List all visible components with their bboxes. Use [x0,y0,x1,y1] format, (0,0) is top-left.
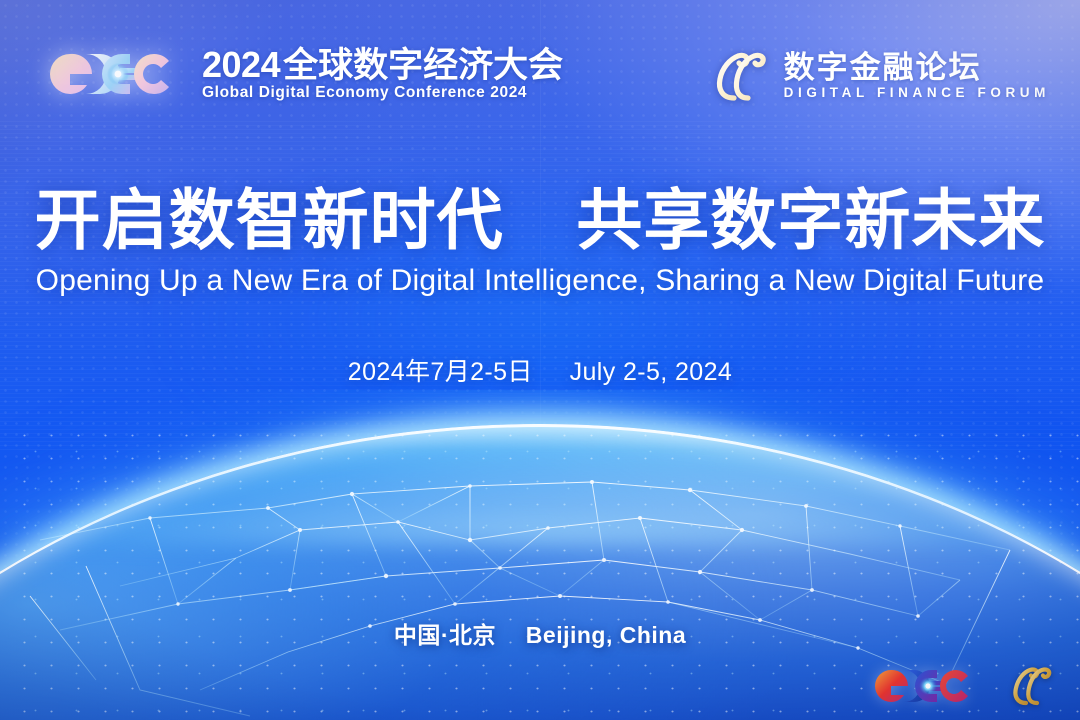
gdec-title-year: 2024 [202,47,280,83]
footer-gdec-logo-icon [870,665,974,707]
main-slogan-block: 开启数智新时代 共享数字新未来 Opening Up a New Era of … [0,186,1080,298]
headline-en: Opening Up a New Era of Digital Intellig… [0,264,1080,298]
dff-title-block: 数字金融论坛 DIGITAL FINANCE FORUM [784,52,1050,100]
dff-title-cn: 数字金融论坛 [784,52,1050,83]
headline-cn-part2: 共享数字新未来 [576,183,1045,257]
footer-ff-monogram-icon [1008,664,1054,708]
gdec-logo-mark-icon [34,44,186,104]
event-location-cn: 中国·北京 [394,622,496,648]
event-date-cn: 2024年7月2-5日 [348,358,533,386]
gdec-title-cn-row: 2024 全球数字经济大会 [202,47,563,83]
headline-cn-part1: 开启数智新时代 [35,183,504,257]
headline-cn: 开启数智新时代 共享数字新未来 [0,186,1080,255]
digital-finance-forum-lockup: 数字金融论坛 DIGITAL FINANCE FORUM [708,48,1050,104]
event-date-en: July 2-5, 2024 [570,358,733,386]
gdec-title-block: 2024 全球数字经济大会 Global Digital Economy Con… [202,47,563,101]
dff-title-en: DIGITAL FINANCE FORUM [784,86,1050,100]
gdec-title-en: Global Digital Economy Conference 2024 [202,85,563,101]
footer-logo-group [870,664,1054,708]
event-date: 2024年7月2-5日 July 2-5, 2024 [0,352,1080,388]
event-location: 中国·北京 Beijing, China [0,616,1080,650]
gdec-title-cn: 全球数字经济大会 [283,48,563,83]
gdec-logo-lockup: 2024 全球数字经济大会 Global Digital Economy Con… [34,44,563,104]
conference-backdrop: 2024 全球数字经济大会 Global Digital Economy Con… [0,0,1080,720]
ff-monogram-icon [708,48,770,104]
event-location-en: Beijing, China [526,622,686,648]
